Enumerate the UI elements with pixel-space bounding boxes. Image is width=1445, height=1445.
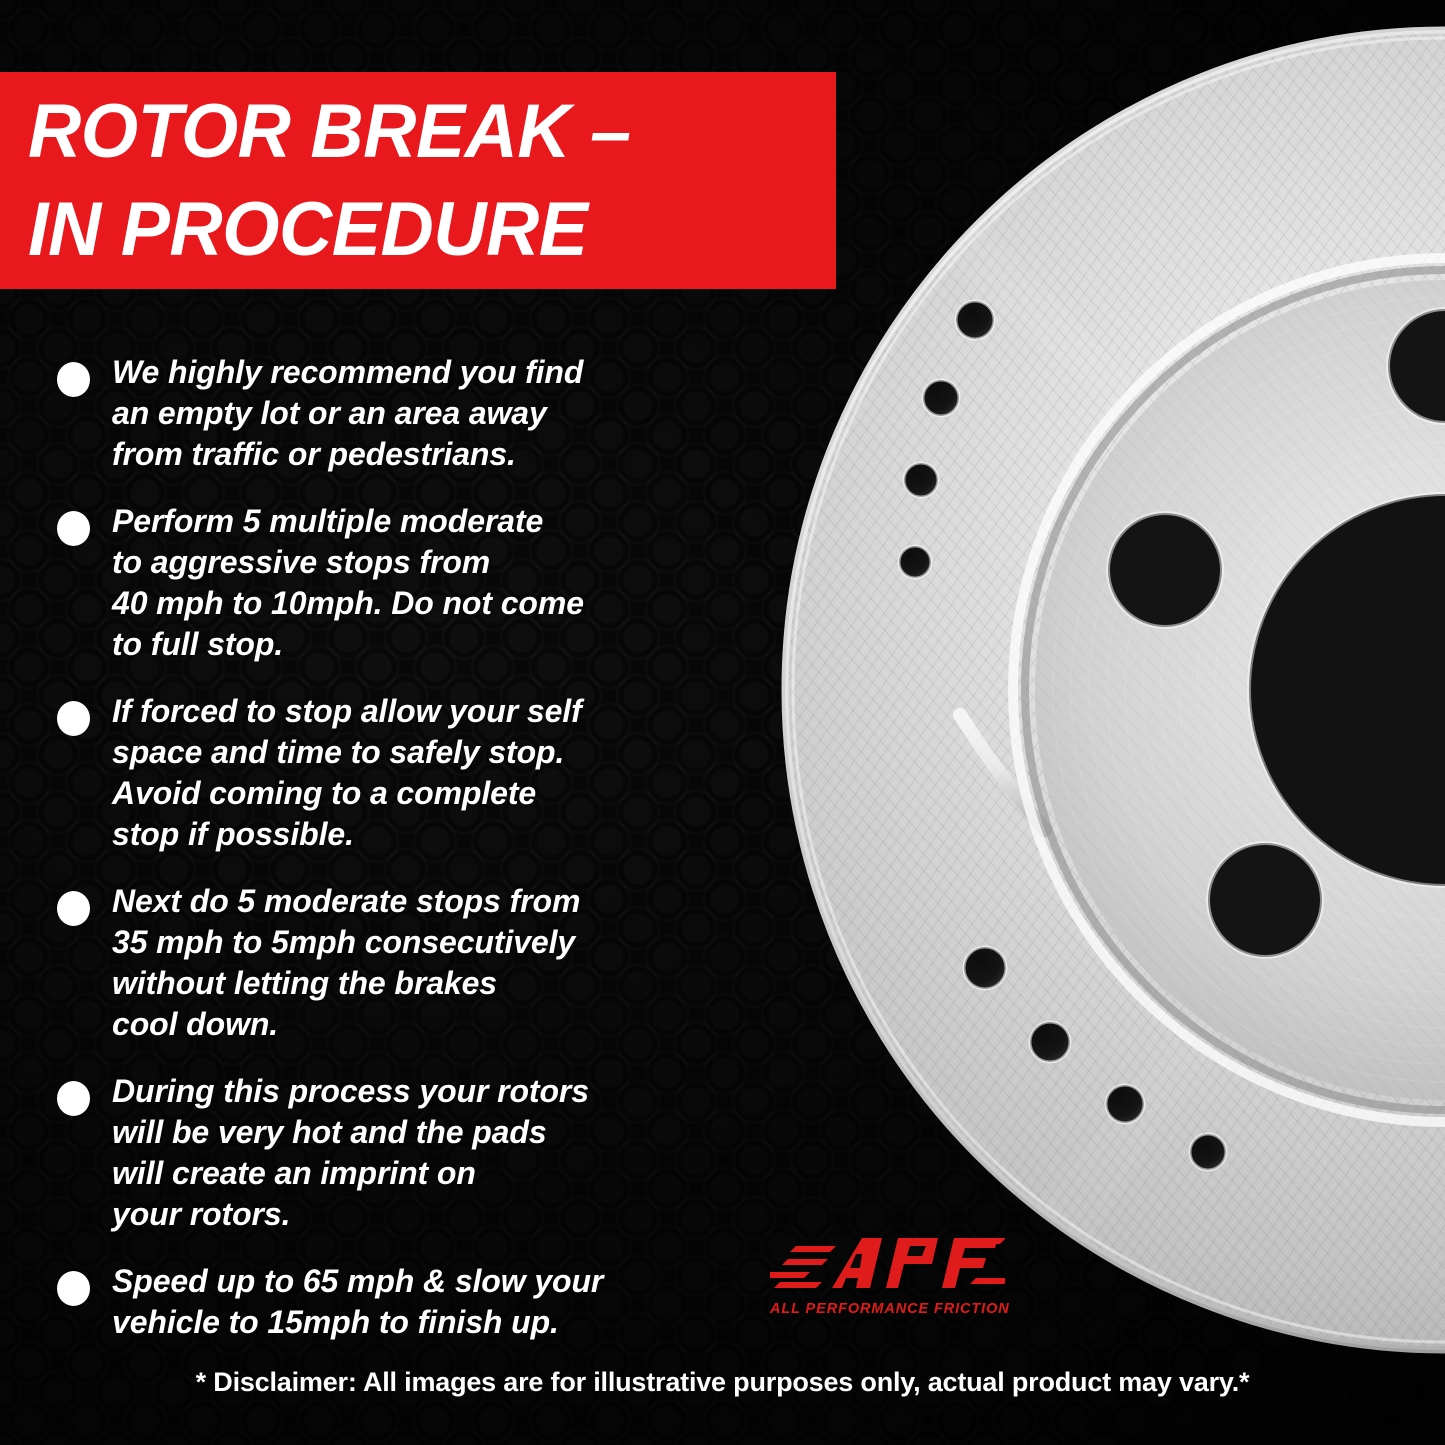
apf-tagline: ALL PERFORMANCE FRICTION [770, 1301, 1005, 1317]
apf-logo: ALL PERFORMANCE FRICTION [770, 1234, 1005, 1334]
bullet-dot-icon [57, 701, 90, 736]
bullet-dot-icon [57, 511, 90, 546]
title-banner: ROTOR BREAK – IN PROCEDURE [0, 72, 836, 289]
step-text: Perform 5 multiple moderate to aggressiv… [112, 501, 584, 665]
list-item: We highly recommend you find an empty lo… [0, 352, 800, 475]
bullet-dot-icon [57, 891, 90, 926]
list-item: Next do 5 moderate stops from 35 mph to … [0, 881, 800, 1045]
step-text: During this process your rotors will be … [112, 1071, 589, 1235]
list-item: During this process your rotors will be … [0, 1071, 800, 1235]
title-line-1: ROTOR BREAK – [28, 83, 812, 181]
step-text: We highly recommend you find an empty lo… [112, 352, 583, 475]
disclaimer-text: * Disclaimer: All images are for illustr… [0, 1367, 1445, 1398]
bullet-dot-icon [57, 1271, 90, 1306]
procedure-step-list: We highly recommend you find an empty lo… [0, 352, 800, 1369]
step-text: Next do 5 moderate stops from 35 mph to … [112, 881, 580, 1045]
list-item: Speed up to 65 mph & slow your vehicle t… [0, 1261, 800, 1343]
promo-graphic: ROTOR BREAK – IN PROCEDURE We highly rec… [0, 0, 1445, 1445]
step-text: If forced to stop allow your self space … [112, 691, 582, 855]
bullet-dot-icon [57, 362, 90, 397]
apf-wordmark-icon [770, 1234, 1005, 1296]
step-text: Speed up to 65 mph & slow your vehicle t… [112, 1261, 603, 1343]
list-item: If forced to stop allow your self space … [0, 691, 800, 855]
title-line-2: IN PROCEDURE [28, 181, 812, 279]
list-item: Perform 5 multiple moderate to aggressiv… [0, 501, 800, 665]
bullet-dot-icon [57, 1081, 90, 1116]
